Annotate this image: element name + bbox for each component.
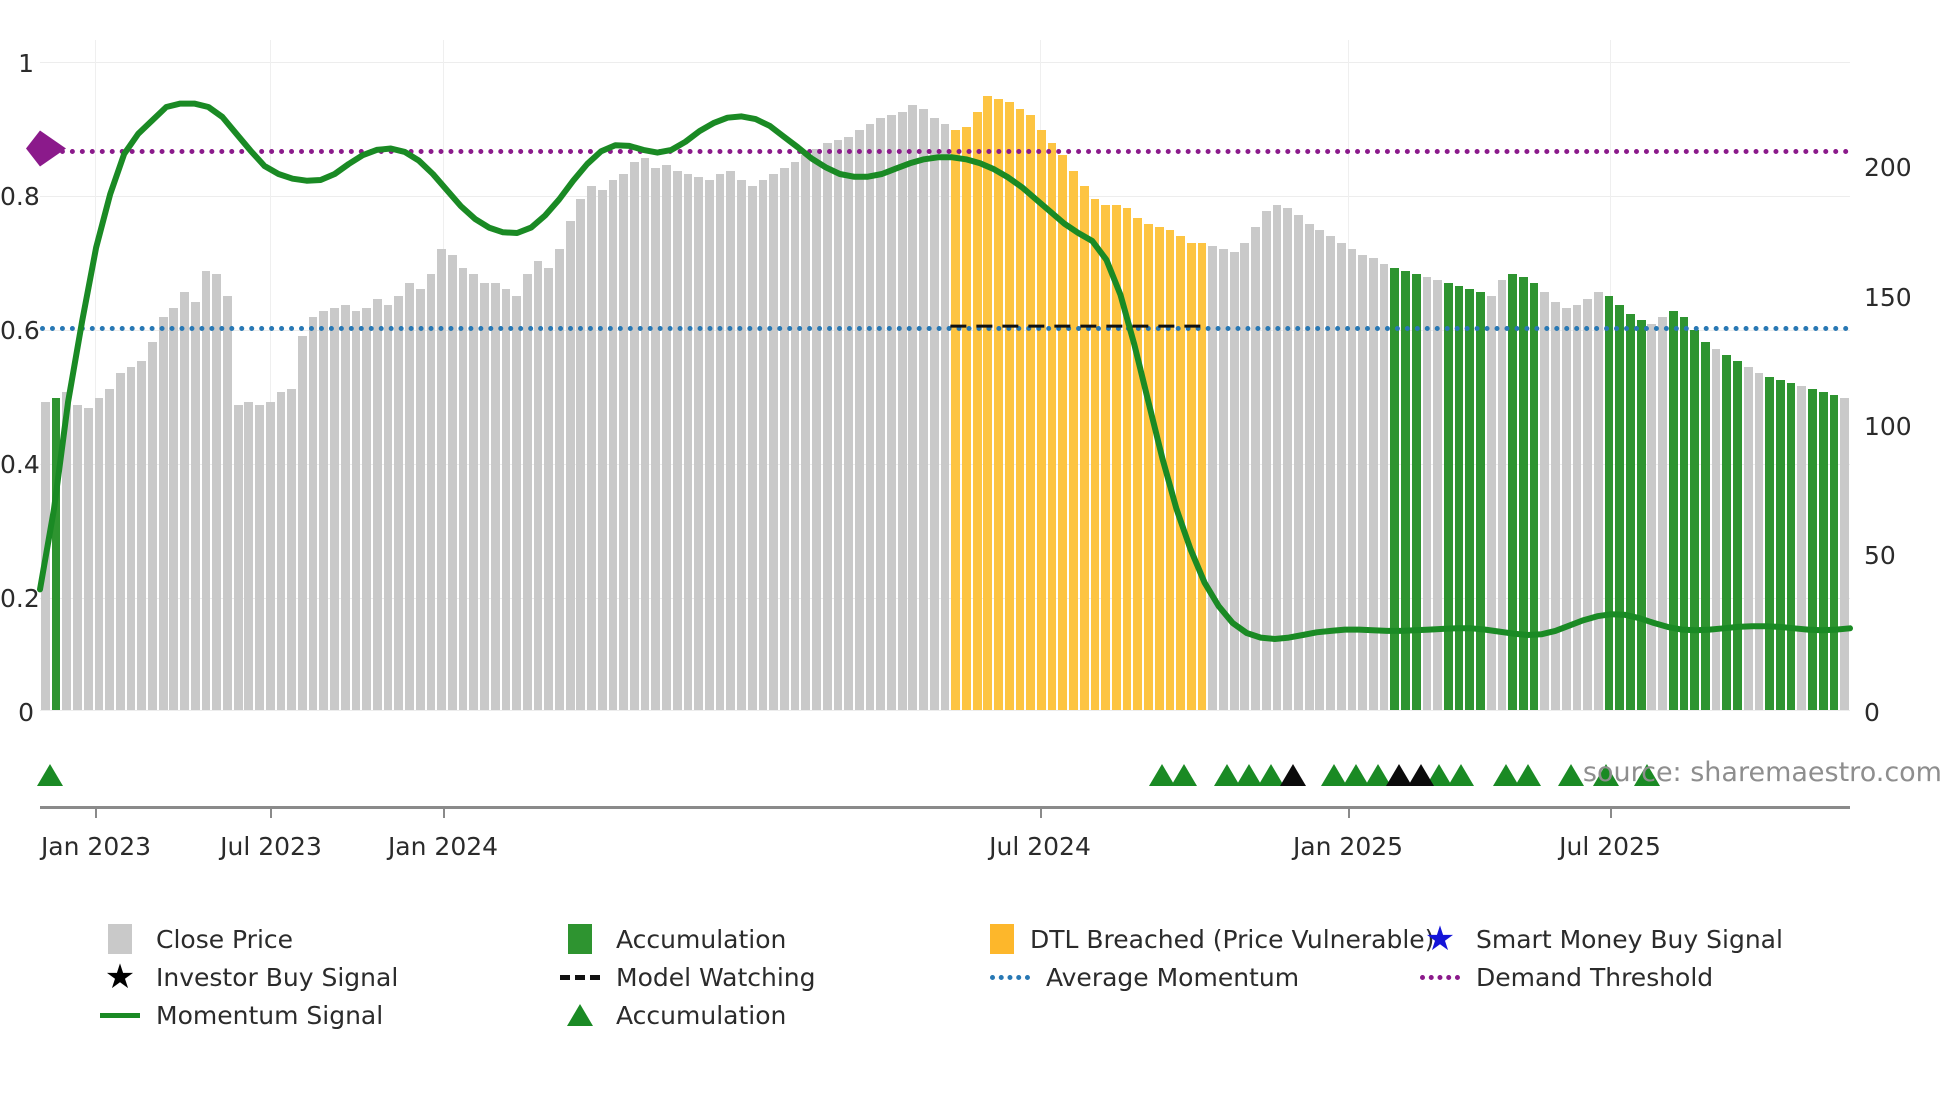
- bar-127: [1401, 271, 1410, 710]
- gridline-1: [40, 62, 1850, 63]
- accumulation-triangle-marker: [1558, 764, 1584, 786]
- bar-168: [1840, 398, 1849, 710]
- bar-146: [1605, 296, 1614, 710]
- legend-row-2: ★ Investor Buy Signal Model Watching Ave…: [100, 958, 1900, 996]
- bar-67: [759, 180, 768, 710]
- bar-63: [716, 174, 725, 710]
- bar-89: [994, 99, 1003, 710]
- bar-14: [191, 302, 200, 710]
- bar-119: [1315, 230, 1324, 710]
- bar-80: [898, 112, 907, 710]
- bar-109: [1208, 246, 1217, 710]
- bar-64: [726, 171, 735, 710]
- bar-94: [1048, 143, 1057, 710]
- investor-buy-triangle-marker: [1408, 764, 1434, 786]
- bar-158: [1733, 361, 1742, 710]
- bar-92: [1026, 115, 1035, 710]
- bar-50: [576, 199, 585, 710]
- bar-125: [1380, 264, 1389, 710]
- bar-53: [609, 180, 618, 710]
- legend-label: Accumulation: [616, 925, 786, 954]
- bar-121: [1337, 243, 1346, 710]
- bar-90: [1005, 102, 1014, 710]
- x-axis-label-jan2025: Jan 2025: [1252, 832, 1444, 861]
- bar-52: [598, 190, 607, 710]
- bar-165: [1808, 389, 1817, 710]
- y-axis-right-tick-50: 50: [1864, 541, 1896, 570]
- bar-62: [705, 180, 714, 710]
- bar-140: [1540, 292, 1549, 710]
- y-axis-left-tick-1: 1: [0, 49, 34, 78]
- gridline-0: [40, 710, 1850, 711]
- bar-24: [298, 336, 307, 710]
- bar-130: [1433, 280, 1442, 710]
- bar-27: [330, 308, 339, 710]
- bar-83: [930, 118, 939, 710]
- bar-116: [1283, 208, 1292, 710]
- bar-128: [1412, 274, 1421, 710]
- bar-143: [1573, 305, 1582, 710]
- bar-5: [95, 398, 104, 710]
- bar-117: [1294, 215, 1303, 710]
- bar-4: [84, 408, 93, 710]
- plot-area: [40, 40, 1850, 710]
- bar-23: [287, 389, 296, 710]
- bar-144: [1583, 299, 1592, 710]
- dtl-breached-swatch-icon: [990, 922, 1014, 956]
- bar-152: [1669, 311, 1678, 710]
- bar-126: [1390, 268, 1399, 711]
- bar-21: [266, 402, 275, 711]
- bar-34: [405, 283, 414, 710]
- bar-36: [427, 274, 436, 710]
- dotted-line-purple-icon: [1420, 960, 1460, 994]
- star-blue-icon: ★: [1420, 922, 1460, 956]
- bar-18: [234, 405, 243, 710]
- bar-22: [277, 392, 286, 710]
- bar-58: [662, 165, 671, 710]
- bar-54: [619, 174, 628, 710]
- bar-122: [1348, 249, 1357, 710]
- bar-41: [480, 283, 489, 710]
- bar-78: [876, 118, 885, 710]
- bar-0: [41, 402, 50, 711]
- bar-167: [1830, 395, 1839, 710]
- x-axis-tick-jul2024: [1040, 806, 1042, 818]
- bar-156: [1712, 349, 1721, 710]
- bar-96: [1069, 171, 1078, 710]
- bar-65: [737, 180, 746, 710]
- bar-43: [502, 289, 511, 710]
- triangle-green-icon: [560, 998, 600, 1032]
- bar-106: [1176, 236, 1185, 710]
- bar-33: [394, 296, 403, 710]
- bar-95: [1058, 155, 1067, 710]
- bar-84: [941, 124, 950, 710]
- chart-legend: Close Price Accumulation DTL Breached (P…: [100, 920, 1900, 1034]
- bar-142: [1562, 308, 1571, 710]
- legend-item-investor-buy-signal[interactable]: ★ Investor Buy Signal: [100, 958, 560, 996]
- bar-100: [1112, 205, 1121, 710]
- bar-6: [105, 389, 114, 710]
- legend-label: Investor Buy Signal: [156, 963, 398, 992]
- bar-85: [951, 130, 960, 710]
- x-axis-label-jan2024: Jan 2024: [347, 832, 539, 861]
- bar-49: [566, 221, 575, 710]
- accumulation-marker-row: [40, 752, 1850, 786]
- bar-30: [362, 308, 371, 710]
- bar-102: [1133, 218, 1142, 710]
- bar-81: [908, 105, 917, 710]
- bar-35: [416, 289, 425, 710]
- bar-73: [823, 143, 832, 710]
- legend-item-smart-money-buy-signal[interactable]: ★ Smart Money Buy Signal: [1420, 920, 1783, 958]
- bar-166: [1819, 392, 1828, 710]
- bar-107: [1187, 243, 1196, 710]
- bar-151: [1658, 317, 1667, 710]
- bar-135: [1487, 296, 1496, 710]
- bar-13: [180, 292, 189, 710]
- legend-item-accumulation-bar[interactable]: Accumulation: [560, 920, 990, 958]
- bar-101: [1123, 208, 1132, 710]
- bar-20: [255, 405, 264, 710]
- bar-56: [641, 158, 650, 710]
- bar-91: [1016, 109, 1025, 710]
- bar-108: [1198, 243, 1207, 710]
- legend-label: Model Watching: [616, 963, 816, 992]
- bar-55: [630, 162, 639, 710]
- bar-86: [962, 127, 971, 710]
- accumulation-swatch-icon: [560, 922, 600, 956]
- legend-item-close-price[interactable]: Close Price: [100, 920, 560, 958]
- accumulation-triangle-marker: [1171, 764, 1197, 786]
- bar-25: [309, 317, 318, 710]
- legend-row-1: Close Price Accumulation DTL Breached (P…: [100, 920, 1900, 958]
- bar-141: [1551, 302, 1560, 710]
- bar-133: [1465, 289, 1474, 710]
- legend-item-dtl-breached[interactable]: DTL Breached (Price Vulnerable): [990, 920, 1420, 958]
- bar-111: [1230, 252, 1239, 710]
- accumulation-triangle-marker: [1448, 764, 1474, 786]
- bar-42: [491, 283, 500, 710]
- bar-160: [1755, 373, 1764, 710]
- bar-147: [1615, 305, 1624, 710]
- bar-145: [1594, 292, 1603, 710]
- bar-154: [1690, 330, 1699, 710]
- demand-threshold-line: [40, 149, 1850, 154]
- bar-68: [769, 174, 778, 710]
- x-axis-label-jul2023: Jul 2023: [175, 832, 367, 861]
- dotted-line-blue-icon: [990, 960, 1030, 994]
- bar-47: [544, 268, 553, 711]
- bar-51: [587, 186, 596, 710]
- bar-48: [555, 249, 564, 710]
- bar-120: [1326, 236, 1335, 710]
- x-axis-tick-jan2025: [1348, 806, 1350, 818]
- bar-132: [1455, 286, 1464, 710]
- bar-138: [1519, 277, 1528, 710]
- bar-87: [973, 112, 982, 710]
- investor-buy-triangle-marker: [1280, 764, 1306, 786]
- bar-1: [52, 398, 61, 710]
- bar-66: [748, 186, 757, 710]
- x-axis-tick-jul2023: [270, 806, 272, 818]
- bar-113: [1251, 227, 1260, 710]
- dashed-line-icon: [560, 960, 600, 994]
- bar-110: [1219, 249, 1228, 710]
- bar-69: [780, 168, 789, 710]
- bar-155: [1701, 342, 1710, 710]
- y-axis-left-tick-0.4: 0.4: [0, 450, 34, 479]
- legend-label: Momentum Signal: [156, 1001, 383, 1030]
- bar-40: [469, 274, 478, 710]
- bar-137: [1508, 274, 1517, 710]
- legend-label: DTL Breached (Price Vulnerable): [1030, 925, 1434, 954]
- legend-item-average-momentum[interactable]: Average Momentum: [990, 958, 1420, 996]
- bar-161: [1765, 377, 1774, 710]
- x-axis-tick-jan2024: [443, 806, 445, 818]
- accumulation-triangle-marker: [1515, 764, 1541, 786]
- bar-9: [137, 361, 146, 710]
- bar-61: [694, 177, 703, 710]
- legend-label: Smart Money Buy Signal: [1476, 925, 1783, 954]
- bar-104: [1155, 227, 1164, 710]
- bar-19: [244, 402, 253, 711]
- x-axis-label-jan2023: Jan 2023: [0, 832, 192, 861]
- bar-31: [373, 299, 382, 710]
- bar-70: [791, 162, 800, 710]
- bar-136: [1498, 280, 1507, 710]
- bar-12: [169, 308, 178, 710]
- bar-123: [1358, 255, 1367, 710]
- bar-150: [1647, 324, 1656, 710]
- bar-45: [523, 274, 532, 710]
- bar-162: [1776, 380, 1785, 710]
- bar-44: [512, 296, 521, 710]
- bar-28: [341, 305, 350, 710]
- bar-8: [127, 367, 136, 710]
- bar-159: [1744, 367, 1753, 710]
- x-axis-tick-jan2023: [95, 806, 97, 818]
- bar-134: [1476, 292, 1485, 710]
- bar-118: [1305, 224, 1314, 710]
- y-axis-right-tick-100: 100: [1864, 412, 1912, 441]
- bar-115: [1273, 205, 1282, 710]
- bar-164: [1797, 386, 1806, 710]
- y-axis-right-tick-200: 200: [1864, 153, 1912, 182]
- bar-157: [1722, 355, 1731, 710]
- close-price-swatch-icon: [100, 922, 140, 956]
- bar-11: [159, 317, 168, 710]
- bar-71: [801, 155, 810, 710]
- y-axis-right-tick-0: 0: [1864, 698, 1880, 727]
- legend-label: Accumulation: [616, 1001, 786, 1030]
- x-axis-label-jul2024: Jul 2024: [944, 832, 1136, 861]
- bar-57: [651, 168, 660, 710]
- bar-148: [1626, 314, 1635, 710]
- x-axis-label-jul2025: Jul 2025: [1514, 832, 1706, 861]
- bar-77: [866, 124, 875, 710]
- legend-label: Demand Threshold: [1476, 963, 1713, 992]
- bar-75: [844, 137, 853, 710]
- legend-item-accumulation-marker[interactable]: Accumulation: [560, 996, 990, 1034]
- star-black-icon: ★: [100, 960, 140, 994]
- bar-26: [319, 311, 328, 710]
- bar-98: [1091, 199, 1100, 710]
- y-axis-left-tick-0.8: 0.8: [0, 182, 34, 211]
- solid-line-green-icon: [100, 998, 140, 1032]
- legend-item-momentum-signal[interactable]: Momentum Signal: [100, 996, 560, 1034]
- legend-label: Average Momentum: [1046, 963, 1299, 992]
- y-axis-left-tick-0: 0: [0, 698, 34, 727]
- bar-59: [673, 171, 682, 710]
- legend-row-3: Momentum Signal Accumulation: [100, 996, 1900, 1034]
- bar-103: [1144, 224, 1153, 710]
- bar-99: [1101, 205, 1110, 710]
- bar-93: [1037, 130, 1046, 710]
- x-axis-tick-jul2025: [1610, 806, 1612, 818]
- bar-72: [812, 149, 821, 710]
- legend-item-demand-threshold[interactable]: Demand Threshold: [1420, 958, 1713, 996]
- bar-38: [448, 255, 457, 710]
- bar-37: [437, 249, 446, 710]
- bar-32: [384, 305, 393, 710]
- y-axis-left-tick-0.2: 0.2: [0, 584, 34, 613]
- bar-15: [202, 271, 211, 710]
- legend-item-model-watching[interactable]: Model Watching: [560, 958, 990, 996]
- bar-112: [1240, 243, 1249, 710]
- bar-105: [1166, 230, 1175, 710]
- bar-79: [887, 115, 896, 710]
- bar-3: [73, 405, 82, 710]
- y-axis-left-tick-0.6: 0.6: [0, 316, 34, 345]
- legend-label: Close Price: [156, 925, 293, 954]
- bar-16: [212, 274, 221, 710]
- bar-2: [62, 392, 71, 710]
- bar-131: [1444, 283, 1453, 710]
- bar-74: [834, 140, 843, 710]
- bar-163: [1787, 383, 1796, 710]
- accumulation-triangle-marker: [37, 764, 63, 786]
- bar-129: [1423, 277, 1432, 710]
- bar-149: [1637, 320, 1646, 710]
- bar-114: [1262, 211, 1271, 710]
- bar-76: [855, 130, 864, 710]
- bar-88: [983, 96, 992, 710]
- bar-82: [919, 109, 928, 710]
- y-axis-right-tick-150: 150: [1864, 283, 1912, 312]
- average-momentum-line: [40, 326, 1850, 331]
- bar-17: [223, 296, 232, 710]
- bar-97: [1080, 186, 1089, 710]
- bar-29: [352, 311, 361, 710]
- chart-root: 1 0.8 0.6 0.4 0.2 0 200 150 100 50 0: [0, 0, 1960, 1102]
- bar-139: [1530, 283, 1539, 710]
- bar-60: [684, 174, 693, 710]
- x-axis-line: [40, 806, 1850, 809]
- bar-7: [116, 373, 125, 710]
- source-attribution: source: sharemaestro.com: [1583, 757, 1942, 788]
- bar-10: [148, 342, 157, 710]
- bar-39: [459, 268, 468, 711]
- bar-153: [1680, 317, 1689, 710]
